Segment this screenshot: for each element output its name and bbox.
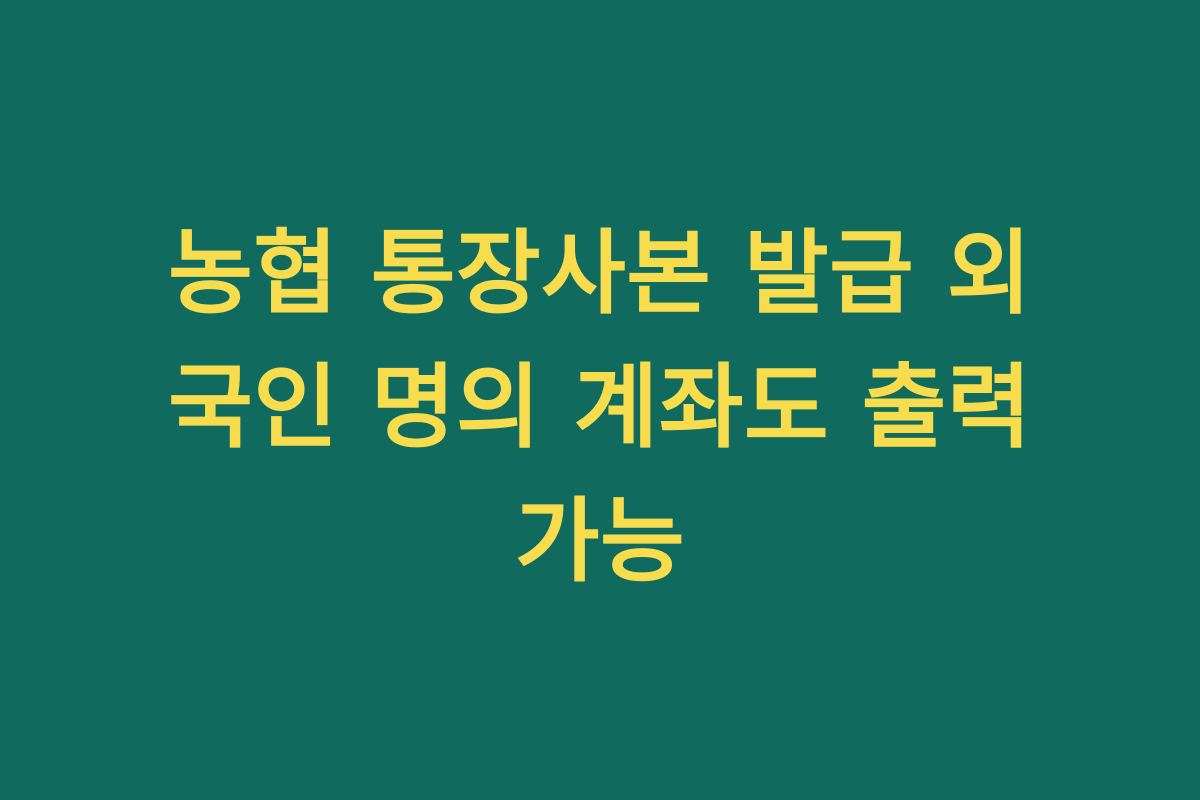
banner-headline-line-3: 가능 <box>65 475 1135 609</box>
banner-headline: 농협 통장사본 발급 외 국인 명의 계좌도 출력 가능 <box>65 207 1135 609</box>
banner-headline-line-2: 국인 명의 계좌도 출력 <box>65 341 1135 475</box>
banner-card: 농협 통장사본 발급 외 국인 명의 계좌도 출력 가능 <box>0 0 1200 800</box>
banner-headline-line-1: 농협 통장사본 발급 외 <box>65 207 1135 341</box>
